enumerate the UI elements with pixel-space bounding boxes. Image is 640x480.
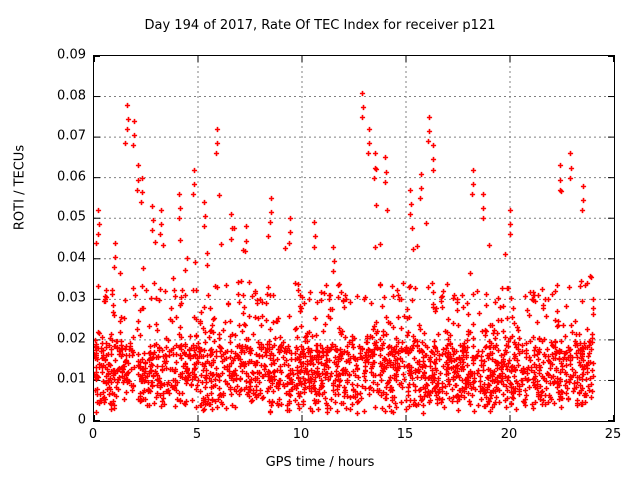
y-tick-label: 0.08	[57, 88, 86, 103]
roti-scatter-plot: Day 194 of 2017, Rate Of TEC Index for r…	[0, 0, 640, 480]
scatter-data-points	[94, 56, 614, 421]
page-title: Day 194 of 2017, Rate Of TEC Index for r…	[0, 18, 640, 33]
x-tick-label: 0	[89, 427, 97, 442]
x-tick-label: 25	[605, 427, 622, 442]
scatter-marker-path	[94, 91, 596, 416]
y-axis-title: ROTI / TECUs	[13, 88, 28, 288]
y-tick-label: 0.07	[57, 129, 86, 144]
y-tick-label: 0.03	[57, 291, 86, 306]
x-tick-label: 5	[193, 427, 201, 442]
y-tick-label: 0	[78, 413, 86, 428]
plot-frame	[93, 55, 615, 422]
x-tick-label: 10	[293, 427, 310, 442]
y-tick-label: 0.02	[57, 331, 86, 346]
x-tick-label: 15	[397, 427, 414, 442]
y-tick-label: 0.09	[57, 48, 86, 63]
y-tick-label: 0.05	[57, 210, 86, 225]
y-tick-label: 0.04	[57, 250, 86, 265]
x-tick-label: 20	[501, 427, 518, 442]
y-tick-label: 0.06	[57, 169, 86, 184]
y-axis-tick-labels: 00.010.020.030.040.050.060.070.080.09	[20, 55, 86, 421]
x-axis-tick-labels: 0510152025	[93, 427, 614, 447]
x-axis-title: GPS time / hours	[0, 455, 640, 470]
y-tick-label: 0.01	[57, 372, 86, 387]
